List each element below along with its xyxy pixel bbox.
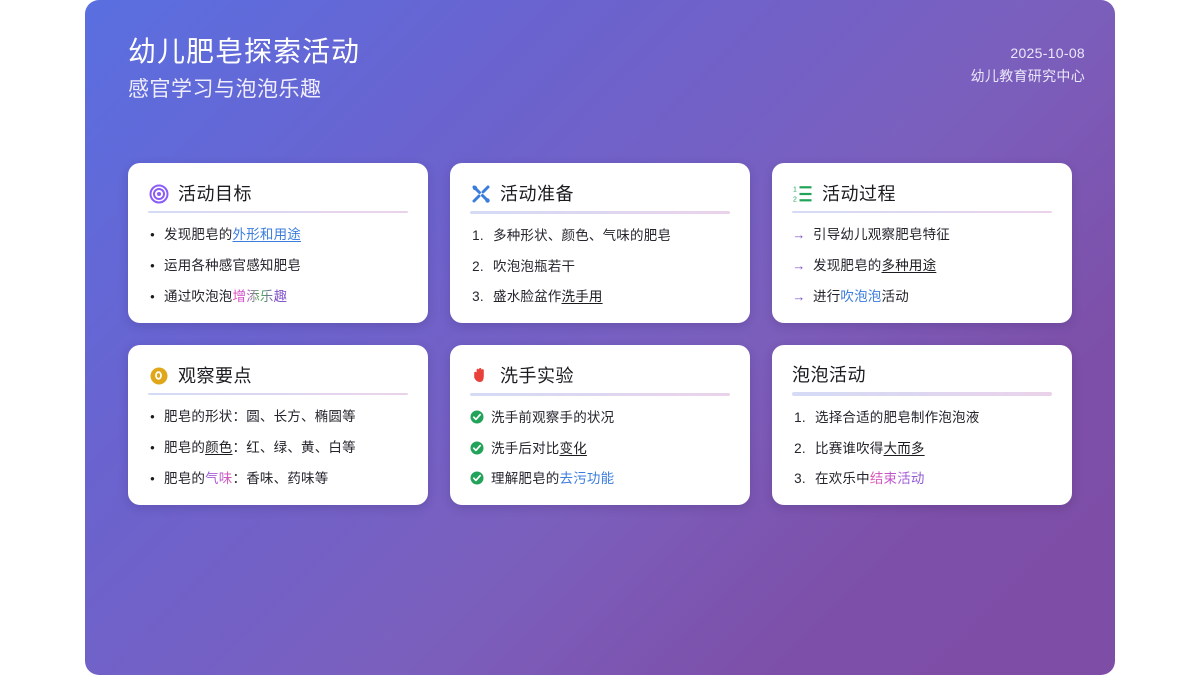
inline-text: ：红、绿、黄、白等 — [233, 440, 356, 455]
page-title: 幼儿肥皂探索活动 — [128, 33, 360, 71]
list-item-text: 肥皂的颜色：红、绿、黄、白等 — [164, 438, 408, 458]
list-item: 洗手后对比变化 — [470, 439, 730, 459]
inline-text: 肥皂的 — [164, 440, 205, 455]
inline-underline: 洗手用 — [562, 289, 603, 304]
list-item-text: 发现肥皂的外形和用途 — [164, 225, 408, 245]
bullet-icon: • — [148, 257, 157, 276]
list-item: 1.选择合适的肥皂制作泡泡液 — [792, 408, 1052, 428]
list-item-text: 引导幼儿观察肥皂特征 — [813, 225, 1052, 245]
card-divider — [148, 393, 408, 395]
card-divider — [792, 211, 1052, 213]
list-item-text: 进行吹泡泡活动 — [813, 287, 1052, 307]
card-title: 活动目标 — [178, 185, 252, 203]
card-title: 洗手实验 — [500, 367, 574, 385]
title-block: 幼儿肥皂探索活动 感官学习与泡泡乐趣 — [128, 33, 360, 105]
list-item: •通过吹泡泡增添乐趣 — [148, 287, 408, 307]
inline-link[interactable]: 吹泡泡 — [840, 289, 881, 304]
slide-canvas: 幼儿肥皂探索活动 感官学习与泡泡乐趣 2025-10-08 幼儿教育研究中心 活… — [85, 0, 1115, 675]
header-meta: 2025-10-08 幼儿教育研究中心 — [971, 33, 1085, 88]
card-header: 观察要点 — [148, 365, 408, 386]
card-divider — [470, 211, 730, 214]
list-item: 2.比赛谁吹得大而多 — [792, 439, 1052, 459]
list-item-text: 肥皂的形状：圆、长方、椭圆等 — [164, 407, 408, 427]
inline-text: 引导幼儿观察肥皂特征 — [813, 227, 950, 242]
list-number: 2. — [470, 257, 486, 277]
inline-text: 盛水脸盆作 — [493, 289, 562, 304]
list-item: 理解肥皂的去污功能 — [470, 469, 730, 489]
bullet-icon: • — [148, 226, 157, 245]
inline-text: 通过吹泡泡 — [164, 289, 233, 304]
card-body: •肥皂的形状：圆、长方、椭圆等•肥皂的颜色：红、绿、黄、白等•肥皂的气味：香味、… — [148, 407, 408, 489]
list-item: •肥皂的气味：香味、药味等 — [148, 469, 408, 489]
card-body: 1.选择合适的肥皂制作泡泡液2.比赛谁吹得大而多3.在欢乐中结束活动 — [792, 408, 1052, 489]
inline-text: 洗手后对比 — [491, 441, 560, 456]
inline-text: 吹泡泡瓶若干 — [493, 259, 575, 274]
list-number: 1. — [470, 226, 486, 246]
card-body: •发现肥皂的外形和用途•运用各种感官感知肥皂•通过吹泡泡增添乐趣 — [148, 225, 408, 307]
inline-underline: 大而多 — [884, 441, 925, 456]
list-item: →引导幼儿观察肥皂特征 — [792, 225, 1052, 245]
list-number: 2. — [792, 439, 808, 459]
list-item: •运用各种感官感知肥皂 — [148, 256, 408, 276]
cards-grid: 活动目标•发现肥皂的外形和用途•运用各种感官感知肥皂•通过吹泡泡增添乐趣活动准备… — [128, 163, 1072, 505]
check-circle-icon — [470, 441, 484, 455]
list-item: 洗手前观察手的状况 — [470, 408, 730, 428]
card-activity-goal[interactable]: 活动目标•发现肥皂的外形和用途•运用各种感官感知肥皂•通过吹泡泡增添乐趣 — [128, 163, 428, 323]
check-circle-icon — [470, 471, 484, 485]
card-header: 泡泡活动 — [792, 365, 1052, 385]
inline-link[interactable]: 去污功能 — [560, 471, 615, 486]
card-bubble-activity[interactable]: 泡泡活动1.选择合适的肥皂制作泡泡液2.比赛谁吹得大而多3.在欢乐中结束活动 — [772, 345, 1072, 505]
list-number: 3. — [470, 287, 486, 307]
bullet-icon: • — [148, 288, 157, 307]
numbered-list-icon: 12 — [792, 183, 813, 204]
inline-highlight: 气味 — [205, 471, 232, 486]
bullet-icon: • — [148, 470, 157, 489]
list-item: •发现肥皂的外形和用途 — [148, 225, 408, 245]
list-item-text: 洗手后对比变化 — [491, 439, 730, 459]
card-observation-points[interactable]: 观察要点•肥皂的形状：圆、长方、椭圆等•肥皂的颜色：红、绿、黄、白等•肥皂的气味… — [128, 345, 428, 505]
inline-text: 洗手前观察手的状况 — [491, 410, 614, 425]
inline-underline: 颜色 — [205, 440, 232, 455]
list-item-text: 理解肥皂的去污功能 — [491, 469, 730, 489]
list-item-text: 通过吹泡泡增添乐趣 — [164, 287, 408, 307]
bullet-icon: • — [148, 408, 157, 427]
page-subtitle: 感官学习与泡泡乐趣 — [128, 74, 360, 106]
card-divider — [792, 392, 1052, 396]
list-item: →发现肥皂的多种用途 — [792, 256, 1052, 276]
list-item-text: 洗手前观察手的状况 — [491, 408, 730, 428]
inline-highlight: 结束活动 — [870, 471, 925, 486]
list-item-text: 吹泡泡瓶若干 — [493, 257, 730, 277]
raised-hand-icon — [470, 365, 491, 386]
list-item: 3.在欢乐中结束活动 — [792, 469, 1052, 489]
inline-text: 选择合适的肥皂制作泡泡液 — [815, 410, 979, 425]
eye-icon — [148, 365, 169, 386]
target-icon — [148, 183, 169, 204]
inline-link[interactable]: 外形和用途 — [233, 227, 302, 242]
card-header: 12活动过程 — [792, 183, 1052, 204]
list-number: 3. — [792, 469, 808, 489]
inline-text: 肥皂的 — [164, 471, 205, 486]
inline-text: 活动 — [882, 289, 909, 304]
list-item: 2.吹泡泡瓶若干 — [470, 257, 730, 277]
inline-text: 比赛谁吹得 — [815, 441, 884, 456]
inline-text: 发现肥皂的 — [813, 258, 882, 273]
slide-header: 幼儿肥皂探索活动 感官学习与泡泡乐趣 2025-10-08 幼儿教育研究中心 — [128, 33, 1085, 105]
inline-underline: 变化 — [560, 441, 587, 456]
card-activity-prep[interactable]: 活动准备1.多种形状、颜色、气味的肥皂2.吹泡泡瓶若干3.盛水脸盆作洗手用 — [450, 163, 750, 323]
list-item: 1.多种形状、颜色、气味的肥皂 — [470, 226, 730, 246]
header-date: 2025-10-08 — [971, 42, 1085, 65]
list-item-text: 发现肥皂的多种用途 — [813, 256, 1052, 276]
list-item-text: 选择合适的肥皂制作泡泡液 — [815, 408, 1052, 428]
card-title: 活动过程 — [822, 185, 896, 203]
inline-text: 发现肥皂的 — [164, 227, 233, 242]
list-item: 3.盛水脸盆作洗手用 — [470, 287, 730, 307]
inline-text: 多种形状、颜色、气味的肥皂 — [493, 228, 671, 243]
list-item-text: 盛水脸盆作洗手用 — [493, 287, 730, 307]
card-body: 洗手前观察手的状况洗手后对比变化理解肥皂的去污功能 — [470, 408, 730, 489]
list-item: →进行吹泡泡活动 — [792, 287, 1052, 307]
card-title: 泡泡活动 — [792, 366, 866, 384]
list-item: •肥皂的颜色：红、绿、黄、白等 — [148, 438, 408, 458]
card-header: 活动准备 — [470, 183, 730, 204]
list-item-text: 在欢乐中结束活动 — [815, 469, 1052, 489]
inline-underline: 多种用途 — [882, 258, 937, 273]
header-org: 幼儿教育研究中心 — [971, 65, 1085, 88]
card-header: 洗手实验 — [470, 365, 730, 386]
inline-text: 运用各种感官感知肥皂 — [164, 258, 301, 273]
svg-text:1: 1 — [793, 186, 797, 193]
card-title: 活动准备 — [500, 185, 574, 203]
inline-highlight: 增添乐趣 — [233, 289, 288, 304]
card-body: →引导幼儿观察肥皂特征→发现肥皂的多种用途→进行吹泡泡活动 — [792, 225, 1052, 307]
list-item-text: 肥皂的气味：香味、药味等 — [164, 469, 408, 489]
card-header: 活动目标 — [148, 183, 408, 204]
arrow-right-icon: → — [792, 257, 806, 276]
card-body: 1.多种形状、颜色、气味的肥皂2.吹泡泡瓶若干3.盛水脸盆作洗手用 — [470, 226, 730, 307]
card-handwash-experiment[interactable]: 洗手实验洗手前观察手的状况洗手后对比变化理解肥皂的去污功能 — [450, 345, 750, 505]
card-activity-process[interactable]: 12活动过程→引导幼儿观察肥皂特征→发现肥皂的多种用途→进行吹泡泡活动 — [772, 163, 1072, 323]
inline-text: 在欢乐中 — [815, 471, 870, 486]
inline-text: 肥皂的形状：圆、长方、椭圆等 — [164, 409, 356, 424]
svg-text:2: 2 — [793, 196, 797, 203]
inline-text: 理解肥皂的 — [491, 471, 560, 486]
card-divider — [148, 211, 408, 213]
card-title: 观察要点 — [178, 367, 252, 385]
arrow-right-icon: → — [792, 226, 806, 245]
list-item: •肥皂的形状：圆、长方、椭圆等 — [148, 407, 408, 427]
list-number: 1. — [792, 408, 808, 428]
check-circle-icon — [470, 410, 484, 424]
list-item-text: 比赛谁吹得大而多 — [815, 439, 1052, 459]
arrow-right-icon: → — [792, 288, 806, 307]
card-divider — [470, 393, 730, 396]
inline-text: 进行 — [813, 289, 840, 304]
tools-icon — [470, 183, 491, 204]
list-item-text: 多种形状、颜色、气味的肥皂 — [493, 226, 730, 246]
bullet-icon: • — [148, 439, 157, 458]
inline-text: ：香味、药味等 — [233, 471, 329, 486]
list-item-text: 运用各种感官感知肥皂 — [164, 256, 408, 276]
